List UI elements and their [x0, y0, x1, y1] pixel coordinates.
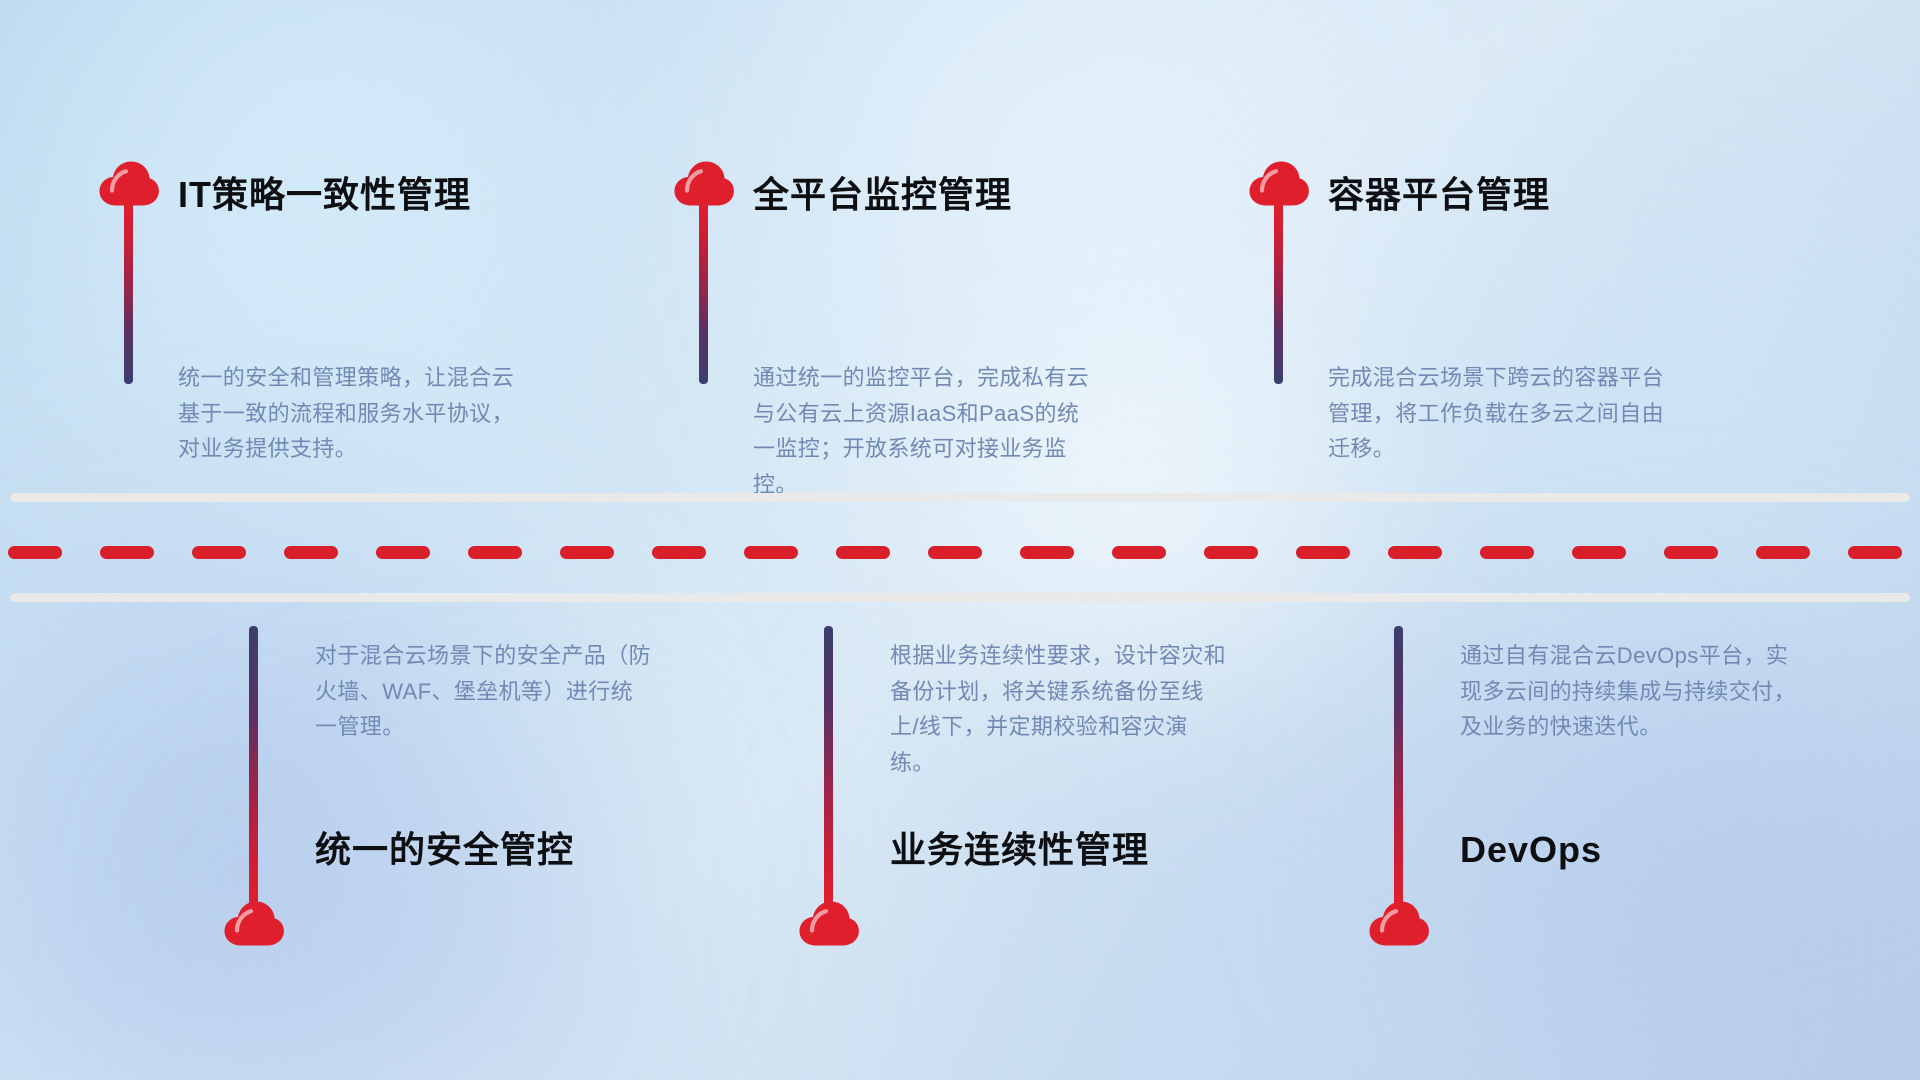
divider-dash	[928, 546, 982, 559]
divider-dash	[1112, 546, 1166, 559]
feature-body: 统一的安全和管理策略，让混合云基于一致的流程和服务水平协议，对业务提供支持。	[178, 360, 518, 467]
feature-heading: IT策略一致性管理	[178, 173, 471, 216]
infographic-canvas: IT策略一致性管理 统一的安全和管理策略，让混合云基于一致的流程和服务水平协议，…	[0, 0, 1920, 1080]
connector-line	[1274, 202, 1283, 384]
cloud-icon	[1248, 160, 1310, 206]
connector-line	[124, 202, 133, 384]
divider-dash	[1848, 546, 1902, 559]
divider-dash	[744, 546, 798, 559]
feature-body: 通过自有混合云DevOps平台，实现多云间的持续集成与持续交付，及业务的快速迭代…	[1460, 638, 1800, 745]
cloud-icon	[798, 900, 860, 946]
divider-dash	[1204, 546, 1258, 559]
divider-dash	[560, 546, 614, 559]
divider-dash	[1020, 546, 1074, 559]
divider-dash	[468, 546, 522, 559]
feature-heading: 容器平台管理	[1328, 173, 1550, 216]
divider-dash	[8, 546, 62, 559]
divider-dash	[1480, 546, 1534, 559]
divider-dash	[100, 546, 154, 559]
divider-dash	[1664, 546, 1718, 559]
feature-heading: DevOps	[1460, 828, 1602, 871]
feature-body: 通过统一的监控平台，完成私有云与公有云上资源IaaS和PaaS的统一监控；开放系…	[753, 360, 1093, 503]
divider-rule-bottom	[10, 593, 1910, 602]
divider-dash	[652, 546, 706, 559]
connector-line	[1394, 626, 1403, 906]
feature-heading: 业务连续性管理	[890, 828, 1149, 871]
cloud-icon	[673, 160, 735, 206]
feature-body: 对于混合云场景下的安全产品（防火墙、WAF、堡垒机等）进行统一管理。	[315, 638, 655, 745]
divider-rule-top	[10, 493, 1910, 502]
divider-dash	[376, 546, 430, 559]
connector-line	[249, 626, 258, 906]
feature-heading: 统一的安全管控	[315, 828, 574, 871]
divider-dash	[1572, 546, 1626, 559]
background-gradient	[0, 0, 1920, 1080]
divider-dash	[192, 546, 246, 559]
connector-line	[824, 626, 833, 906]
cloud-icon	[98, 160, 160, 206]
divider-dash	[1296, 546, 1350, 559]
connector-line	[699, 202, 708, 384]
feature-body: 完成混合云场景下跨云的容器平台管理，将工作负载在多云之间自由迁移。	[1328, 360, 1668, 467]
cloud-icon	[1368, 900, 1430, 946]
divider-dashed-line	[0, 546, 1920, 559]
divider-dash	[1388, 546, 1442, 559]
divider-dash	[284, 546, 338, 559]
cloud-icon	[223, 900, 285, 946]
feature-heading: 全平台监控管理	[753, 173, 1012, 216]
divider-dash	[836, 546, 890, 559]
feature-body: 根据业务连续性要求，设计容灾和备份计划，将关键系统备份至线上/线下，并定期校验和…	[890, 638, 1230, 781]
divider-dash	[1756, 546, 1810, 559]
